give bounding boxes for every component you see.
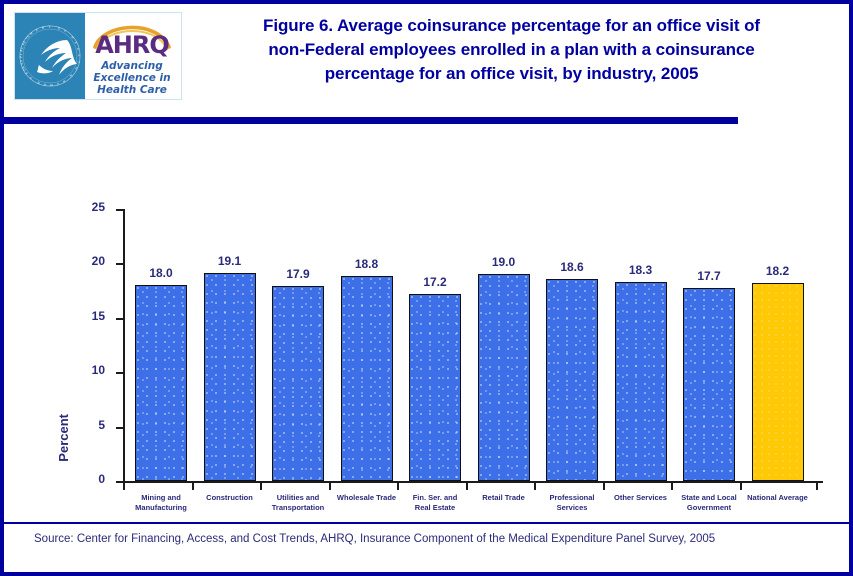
bar-value-label: 17.2 (395, 275, 475, 289)
x-axis-category-label: Mining andManufacturing (125, 493, 197, 513)
bar-group: 18.6 (546, 279, 598, 481)
x-tick (671, 483, 673, 490)
bar-value-label: 18.2 (738, 264, 818, 278)
bar-group: 19.1 (204, 273, 256, 481)
x-axis-category-label: ProfessionalServices (536, 493, 608, 513)
bar (615, 282, 667, 481)
x-axis-category-label: Construction (194, 493, 266, 503)
figure-page: D E P A R T M E N T O F H E A (0, 0, 853, 576)
plot-area: 0510152025 18.019.117.918.817.219.018.61… (123, 209, 823, 483)
x-tick (603, 483, 605, 490)
y-tick-label: 5 (98, 418, 105, 432)
x-axis-category-line: National Average (742, 493, 814, 503)
figure-title-line-1: Figure 6. Average coinsurance percentage… (189, 14, 834, 38)
x-tick (816, 483, 818, 490)
bar (752, 283, 804, 481)
hhs-seal-icon: D E P A R T M E N T O F H E A (15, 13, 85, 99)
bar-group: 17.2 (409, 294, 461, 481)
bar (409, 294, 461, 481)
x-axis-category-line: Transportation (262, 503, 334, 513)
x-tick (123, 483, 125, 490)
svg-text:P: P (19, 56, 23, 58)
figure-title-line-2: non-Federal employees enrolled in a plan… (189, 38, 834, 62)
svg-text:Health Care: Health Care (97, 84, 167, 96)
y-tick-label: 25 (92, 200, 105, 214)
bar-chart: Percent 0510152025 18.019.117.918.817.21… (4, 124, 849, 524)
header-divider (4, 117, 738, 124)
bar-group: 18.0 (135, 285, 187, 481)
x-tick (397, 483, 399, 490)
bar (272, 286, 324, 481)
x-axis-category-line: Utilities and (262, 493, 334, 503)
footer-divider (4, 522, 849, 524)
x-axis-category-line: Services (536, 503, 608, 513)
x-tick (740, 483, 742, 490)
x-axis-category-label: Fin. Ser. andReal Estate (399, 493, 471, 513)
bar-value-label: 19.1 (190, 254, 270, 268)
bar-group: 19.0 (478, 274, 530, 481)
bar-value-label: 18.0 (121, 266, 201, 280)
svg-text:AHRQ: AHRQ (95, 31, 169, 59)
bar (546, 279, 598, 481)
x-axis-category-line: State and Local (673, 493, 745, 503)
x-tick (466, 483, 468, 490)
y-tick: 0 (116, 481, 123, 483)
source-note: Source: Center for Financing, Access, an… (34, 533, 715, 545)
y-tick-label: 0 (98, 472, 105, 486)
bar (341, 276, 393, 481)
svg-text:Excellence in: Excellence in (93, 72, 170, 84)
x-axis-category-line: Mining and (125, 493, 197, 503)
bar-group: 17.9 (272, 286, 324, 481)
x-axis-category-label: Other Services (605, 493, 677, 503)
x-tick (260, 483, 262, 490)
bar-group: 18.3 (615, 282, 667, 481)
ahrq-hhs-logo: D E P A R T M E N T O F H E A (14, 12, 182, 100)
svg-text:T: T (48, 25, 51, 29)
y-axis-label: Percent (56, 414, 78, 462)
svg-text:Advancing: Advancing (100, 60, 163, 72)
y-tick: 5 (116, 427, 123, 429)
y-tick-label: 20 (92, 254, 105, 268)
y-tick-label: 15 (92, 309, 105, 323)
figure-title-line-3: percentage for an office visit, by indus… (189, 62, 834, 86)
x-axis-category-line: Retail Trade (468, 493, 540, 503)
bar (204, 273, 256, 481)
x-axis-category-label: Utilities andTransportation (262, 493, 334, 513)
y-tick: 25 (116, 209, 123, 211)
x-axis-category-line: Fin. Ser. and (399, 493, 471, 503)
bar (135, 285, 187, 481)
x-axis-category-label: Retail Trade (468, 493, 540, 503)
y-tick: 20 (116, 263, 123, 265)
x-tick (192, 483, 194, 490)
x-axis-category-line: Other Services (605, 493, 677, 503)
bar-group: 18.2 (752, 283, 804, 481)
x-axis-category-label: State and LocalGovernment (673, 493, 745, 513)
ahrq-wordmark: AHRQ Advancing Excellence in Health Care (85, 13, 181, 99)
x-tick (534, 483, 536, 490)
x-axis-category-label: National Average (742, 493, 814, 503)
bar-group: 18.8 (341, 276, 393, 481)
bar (683, 288, 735, 481)
y-tick: 10 (116, 372, 123, 374)
figure-title: Figure 6. Average coinsurance percentage… (189, 14, 834, 86)
x-axis-category-line: Professional (536, 493, 608, 503)
y-tick: 15 (116, 318, 123, 320)
figure-header: D E P A R T M E N T O F H E A (4, 4, 849, 109)
bar-value-label: 18.8 (327, 257, 407, 271)
bar-group: 17.7 (683, 288, 735, 481)
bar (478, 274, 530, 481)
y-tick-label: 10 (92, 363, 105, 377)
x-axis-category-line: Construction (194, 493, 266, 503)
x-axis-category-line: Wholesale Trade (331, 493, 403, 503)
x-axis-category-label: Wholesale Trade (331, 493, 403, 503)
x-tick (329, 483, 331, 490)
x-axis-line (123, 481, 823, 483)
x-axis-category-line: Manufacturing (125, 503, 197, 513)
x-axis-category-line: Real Estate (399, 503, 471, 513)
x-axis-category-line: Government (673, 503, 745, 513)
y-axis-line (123, 209, 125, 483)
